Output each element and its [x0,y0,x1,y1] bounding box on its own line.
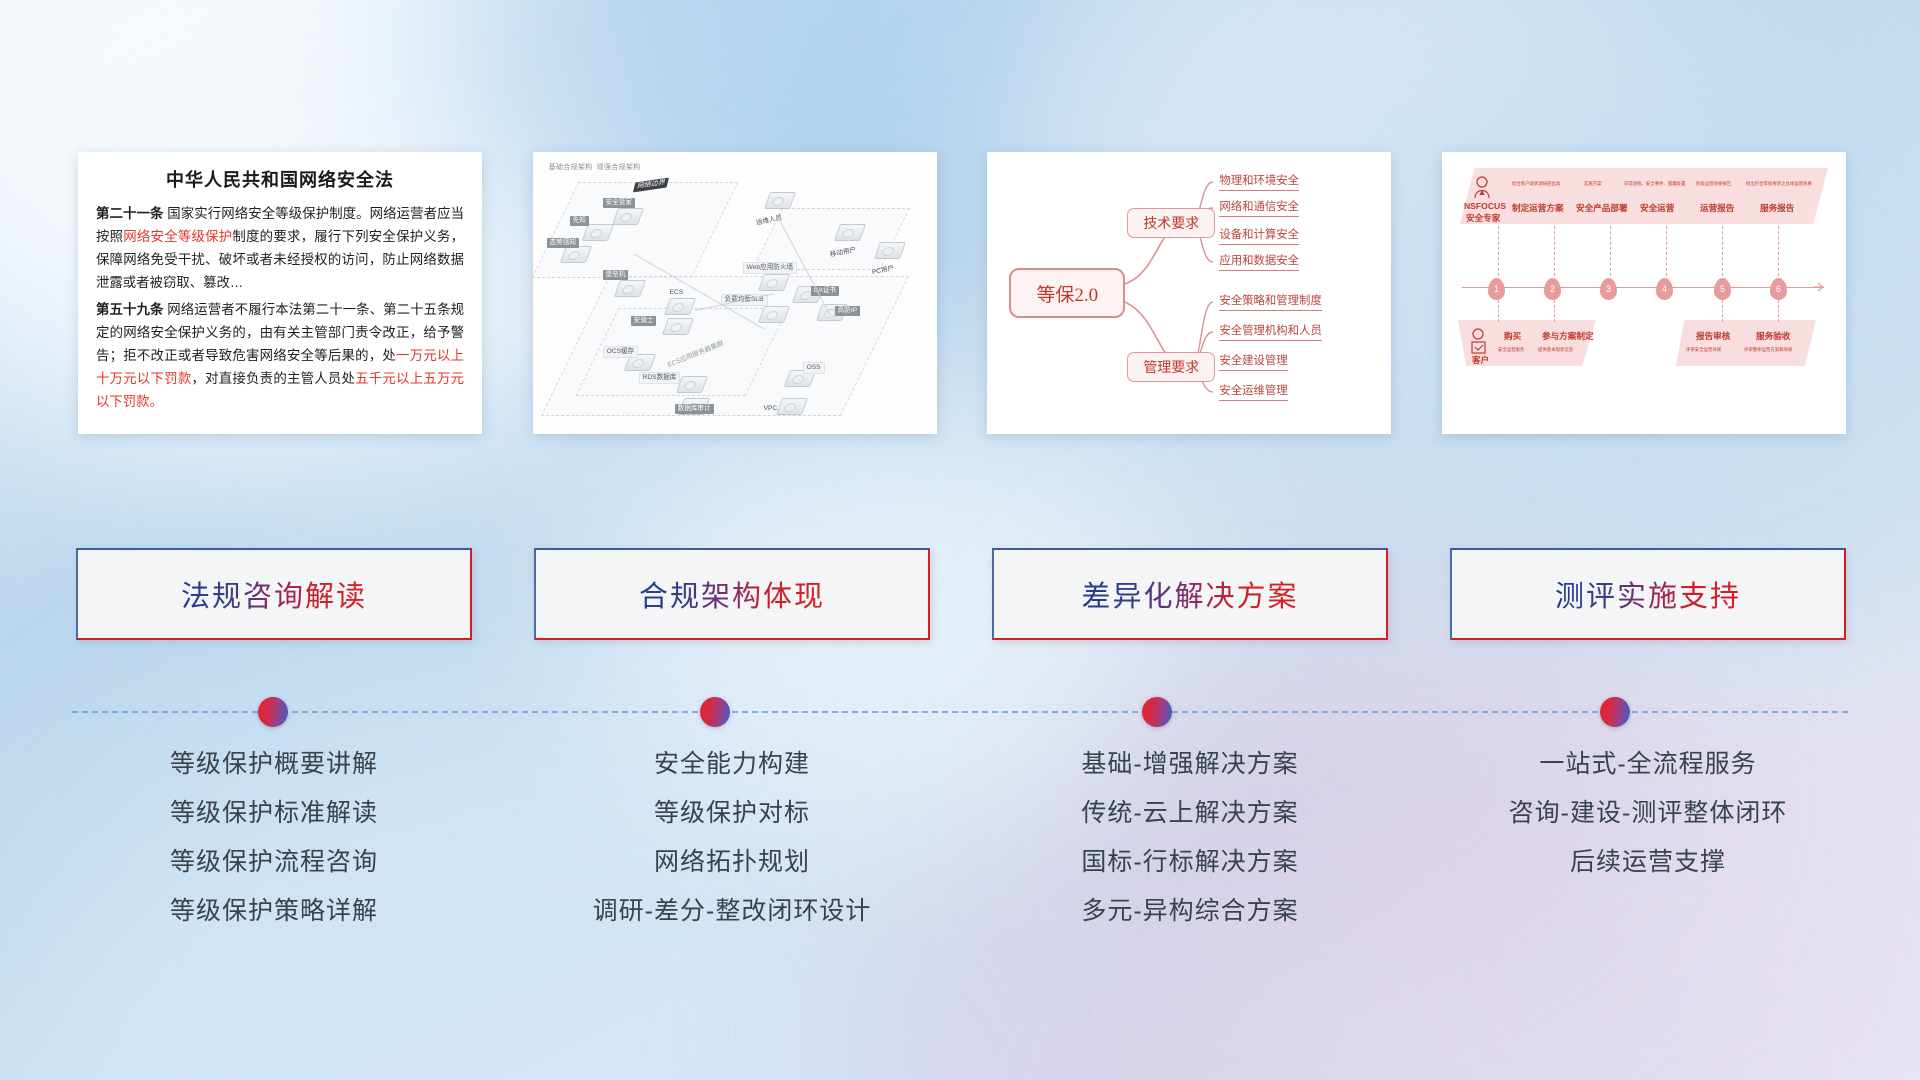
card-compliance-architecture: 基础合规架构 增强合规架构 网络边界 安全管家 先知 态势感知 堡垒机 安骑士 [533,152,937,434]
arch-node-mobile-user-icon [837,224,863,241]
list-item: 等级保护对标 [534,789,930,838]
nsfocus-dash [1610,226,1611,276]
list-item: 传统-云上解决方案 [992,789,1388,838]
nsfocus-step-3-sub: 日常巡检、安全事件、蜜罐处置 [1624,182,1685,186]
arch-node-xianzhi-label: 先知 [570,216,589,226]
arch-node-db-audit-label: 数据库审计 [675,404,714,414]
mindmap-leaf-device-compute: 设备和计算安全 [1219,226,1299,245]
timeline-dot-1[interactable] [258,697,288,727]
arch-node-bastion-host-label: 堡垒机 [603,270,629,280]
nsfocus-dash [1554,300,1555,322]
nsfocus-step-marker-6: 6 [1770,278,1787,300]
list-item: 等级保护标准解读 [76,789,472,838]
headline-boxes-row: 法规咨询解读 合规架构体现 差异化解决方案 测评实施支持 [76,548,1846,640]
mindmap-leaf-policy-system: 安全策略和管理制度 [1219,292,1322,311]
nsfocus-step-1-title: 制定运营方案 [1512,204,1564,213]
mindmap-leaf-network-comm: 网络和通信安全 [1219,198,1299,217]
service-lists-row: 等级保护概要讲解 等级保护标准解读 等级保护流程咨询 等级保护策略详解 安全能力… [76,740,1846,936]
timeline-dot-4[interactable] [1600,697,1630,727]
headline-label: 合规架构体现 [639,573,825,615]
service-list-assessment-support: 一站式-全流程服务 咨询-建设-测评整体闭环 后续运营支撑 [1450,740,1846,936]
law-article-59-label: 第五十九条 [96,302,163,317]
nsfocus-brand-sub: 安全专家 [1466,214,1500,223]
list-item: 等级保护概要讲解 [76,740,472,789]
nsfocus-step-2-title: 安全产品部署 [1576,204,1628,213]
headline-label: 差异化解决方案 [1081,573,1298,615]
law-article-59-text-b: ，对直接负责的主管人员处 [191,371,355,386]
arch-node-oss-label: OSS [803,362,825,374]
timeline-dot-3[interactable] [1142,697,1172,727]
list-item: 国标-行标解决方案 [992,838,1388,887]
list-item: 基础-增强解决方案 [992,740,1388,789]
headline-label: 法规咨询解读 [181,573,367,615]
arch-node-rds-label: RDS数据库 [639,372,681,384]
nsfocus-step-1-sub: 结合客户现状调研后出具 [1512,182,1560,186]
law-article-21-highlight: 网络安全等级保护 [123,229,232,244]
headline-box-regulation-consulting[interactable]: 法规咨询解读 [76,548,472,640]
nsfocus-dash [1722,300,1723,322]
arch-node-bastion-host-icon [617,280,643,297]
mindmap-leaf-org-personnel: 安全管理机构和人员 [1219,322,1322,341]
list-item: 等级保护策略详解 [76,887,472,936]
headline-box-differentiated-solution[interactable]: 差异化解决方案 [992,548,1388,640]
arch-node-pc-user-icon [877,242,903,259]
mindmap-branch-management: 管理要求 [1127,352,1215,382]
service-list-regulation-consulting: 等级保护概要讲解 等级保护标准解读 等级保护流程咨询 等级保护策略详解 [76,740,472,936]
nsfocus-step-marker-1: 1 [1488,278,1505,300]
headline-box-assessment-support[interactable]: 测评实施支持 [1450,548,1846,640]
arch-node-security-butler-icon [615,208,641,225]
nsfocus-dash [1666,226,1667,276]
arch-node-situation-awareness-label: 态势感知 [547,238,579,248]
nsfocus-bottom-3-title: 报告审核 [1696,332,1730,341]
arch-node-anti-ddos-ip-label: 高防IP [835,306,860,316]
mindmap-leaf-app-data: 应用和数据安全 [1219,252,1299,271]
service-list-differentiated-solution: 基础-增强解决方案 传统-云上解决方案 国标-行标解决方案 多元-异构综合方案 [992,740,1388,936]
arch-node-waf-label: Web应用防火墙 [743,262,797,274]
mindmap-leaf-physical-env: 物理和环境安全 [1219,172,1299,191]
nsfocus-step-2-sub: 实施方案 [1584,182,1602,186]
list-item: 咨询-建设-测评整体闭环 [1450,789,1846,838]
architecture-diagram: 基础合规架构 增强合规架构 网络边界 安全管家 先知 态势感知 堡垒机 安骑士 [539,158,931,428]
nsfocus-bottom-1-title: 购买 [1504,332,1521,341]
list-item: 一站式-全流程服务 [1450,740,1846,789]
nsfocus-bottom-4-title: 服务验收 [1756,332,1790,341]
arch-tab-enhanced: 增强合规架构 [597,162,641,172]
arch-zone-management [533,182,738,278]
nsfocus-step-3-title: 安全运营 [1640,204,1674,213]
nsfocus-step-marker-3: 3 [1600,278,1617,300]
nsfocus-bottom-4-sub: 评审整体运营方案和效果 [1744,348,1792,352]
nsfocus-step-5-sub: 给出符合等保要求之总体运营效果 [1746,182,1812,186]
arch-node-anqishi-icon [665,318,691,335]
law-title: 中华人民共和国网络安全法 [96,166,464,192]
card-cybersecurity-law: 中华人民共和国网络安全法 第二十一条 国家实行网络安全等级保护制度。网络运营者应… [78,152,482,434]
mindmap-branch-technical: 技术要求 [1127,208,1215,238]
arch-node-xianzhi-icon [585,224,611,241]
nsfocus-step-4-sub: 阶段运营效果报告 [1696,182,1731,186]
nsfocus-dash [1778,300,1779,322]
law-article-21: 第二十一条 国家实行网络安全等级保护制度。网络运营者应当按照网络安全等级保护制度… [96,202,464,294]
arch-node-vpc-icon [779,398,805,415]
service-list-compliance-architecture: 安全能力构建 等级保护对标 网络拓扑规划 调研-差分-整改闭环设计 [534,740,930,936]
nsfocus-dash [1722,226,1723,276]
arch-node-security-butler-label: 安全管家 [603,198,635,208]
list-item: 调研-差分-整改闭环设计 [534,887,930,936]
arch-node-rds-icon [679,376,705,393]
illustration-cards-row: 中华人民共和国网络安全法 第二十一条 国家实行网络安全等级保护制度。网络运营者应… [78,152,1846,434]
timeline [0,692,1920,732]
mindmap-connectors [987,152,1391,434]
arch-node-situation-awareness-icon [563,246,589,263]
nsfocus-step-5-title: 服务报告 [1760,204,1794,213]
nsfocus-step-marker-2: 2 [1544,278,1561,300]
mindmap-leaf-build-mgmt: 安全建设管理 [1219,352,1287,371]
timeline-dot-2[interactable] [700,697,730,727]
nsfocus-bottom-1-sub: 安全运营服务 [1498,348,1524,352]
arch-node-ecs-icon [667,298,693,315]
card-mindmap-dengbao: 等保2.0 技术要求 管理要求 物理和环境安全 网络和通信安全 设备和计算安全 [987,152,1391,434]
nsfocus-bottom-2-title: 参与方案制定 [1542,332,1594,341]
law-article-21-label: 第二十一条 [96,206,163,221]
list-item: 安全能力构建 [534,740,930,789]
list-item: 等级保护流程咨询 [76,838,472,887]
nsfocus-step-4-title: 运营报告 [1700,204,1734,213]
timeline-dashed-line [72,711,1848,713]
nsfocus-brand: NSFOCUS [1464,202,1506,211]
arch-node-ocs-cache-label: OCS缓存 [603,346,638,358]
list-item: 多元-异构综合方案 [992,887,1388,936]
nsfocus-bottom-3-sub: 评审安全运营效果 [1686,348,1721,352]
nsfocus-dash [1498,226,1499,276]
headline-label: 测评实施支持 [1555,573,1741,615]
mindmap-leaf-ops-mgmt: 安全运维管理 [1219,382,1287,401]
list-item: 网络拓扑规划 [534,838,930,887]
nsfocus-dash [1554,226,1555,276]
law-article-59: 第五十九条 网络运营者不履行本法第二十一条、第二十五条规定的网络安全保护义务的，… [96,298,464,413]
nsfocus-customer: 客户 [1472,356,1489,365]
nsfocus-step-marker-4: 4 [1656,278,1673,300]
arch-node-vpc-label: VPC [761,404,781,414]
nsfocus-step-marker-5: 5 [1714,278,1731,300]
arch-node-anqishi-label: 安骑士 [631,316,657,326]
nsfocus-bottom-2-sub: 提供基本现状信息 [1538,348,1573,352]
arch-tab-basic: 基础合规架构 [549,162,593,172]
nsfocus-dash [1778,226,1779,276]
list-item: 后续运营支撑 [1450,838,1846,887]
card-nsfocus-service-timeline: NSFOCUS 安全专家 客户 结合客户现状调研后出具 制定运营方案 实施方案 … [1442,152,1846,434]
arch-node-ops-staff-icon [767,192,793,209]
arch-node-slb-icon [761,306,787,323]
nsfocus-dash [1498,300,1499,322]
arch-node-ecs-label: ECS [667,288,687,298]
arch-node-waf-icon [761,274,787,291]
headline-box-compliance-architecture[interactable]: 合规架构体现 [534,548,930,640]
